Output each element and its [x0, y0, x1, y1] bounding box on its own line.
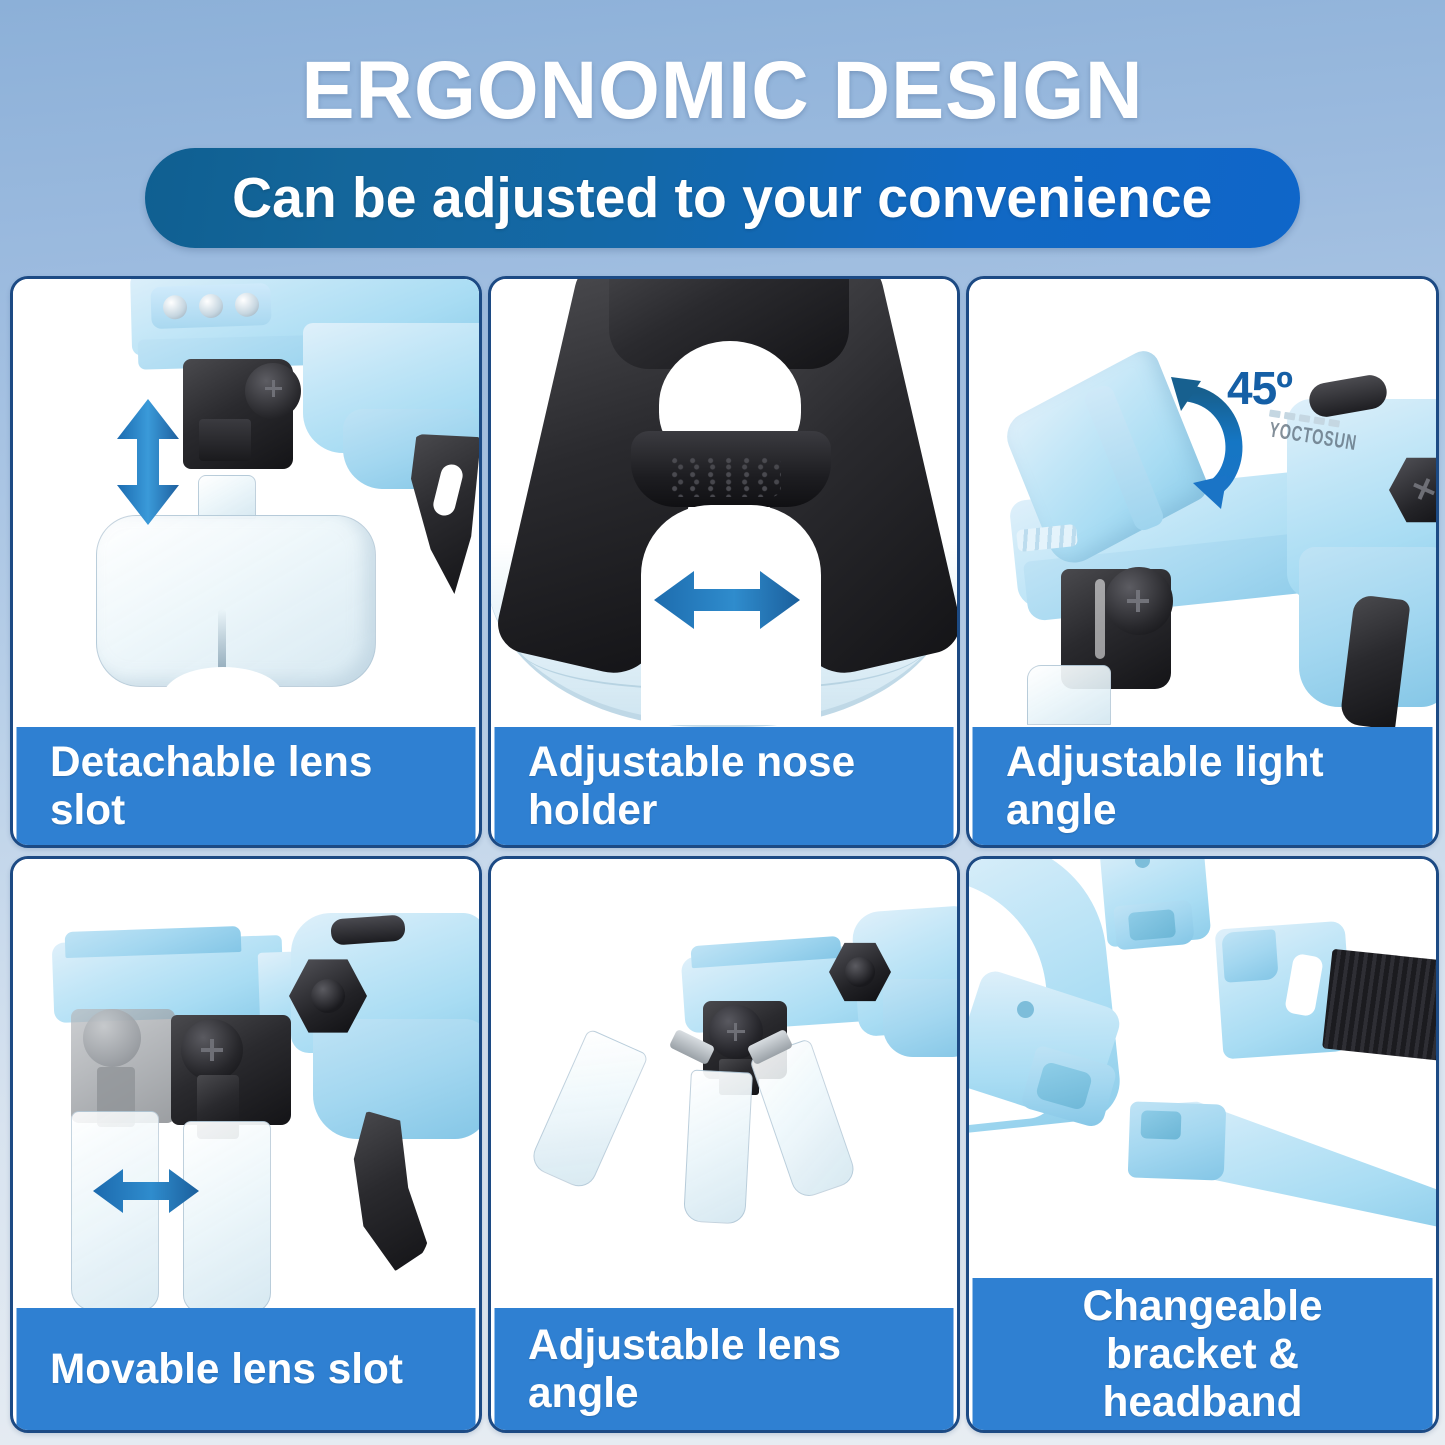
lens-plate-notch	[163, 667, 283, 727]
lens-mount-screw-cross	[272, 380, 275, 397]
lens-position-center	[683, 1069, 753, 1224]
led-bulb-icon	[199, 294, 224, 319]
product-photo-adjustable-lens-angle	[491, 859, 957, 1308]
led-bulb-icon	[163, 295, 188, 320]
product-photo-adjustable-light-angle: YOCTOSUN	[969, 279, 1436, 727]
caption-changeable-bracket-headband: Changeable bracket & headband	[973, 1278, 1433, 1430]
hinge-screw-cross	[734, 1023, 737, 1041]
horizontal-double-arrow-icon	[91, 1167, 201, 1215]
feature-card-movable-lens-slot[interactable]: Movable lens slot	[10, 856, 482, 1433]
subtitle-text: Can be adjusted to your convenience	[232, 165, 1212, 231]
caption-movable-lens-slot: Movable lens slot	[16, 1308, 475, 1430]
switch-strip	[330, 914, 406, 945]
swivel-joint-slit	[1095, 579, 1105, 659]
lens-position-right	[749, 1038, 858, 1201]
feature-card-adjustable-light-angle[interactable]: YOCTOSUN	[966, 276, 1439, 848]
swivel-screw-cross	[1136, 590, 1140, 612]
product-photo-movable-lens-slot	[13, 859, 479, 1308]
feature-card-adjustable-nose-holder[interactable]: Adjustable nose holder	[488, 276, 960, 848]
nose-pad-texture	[671, 455, 781, 497]
detachable-lens-plate	[96, 515, 376, 687]
led-strip	[150, 283, 271, 329]
product-photo-changeable-bracket-headband	[969, 859, 1436, 1278]
clip-top-slot	[1128, 909, 1176, 941]
header: ERGONOMIC DESIGN Can be adjusted to your…	[0, 0, 1445, 248]
bracket-screw-cross	[210, 1039, 214, 1061]
product-photo-detachable-lens-slot	[13, 279, 479, 727]
subtitle-banner: Can be adjusted to your convenience	[145, 148, 1300, 248]
led-bulb-icon	[235, 292, 260, 317]
horizontal-double-arrow-icon	[652, 569, 802, 631]
feature-card-adjustable-lens-angle[interactable]: Adjustable lens angle	[488, 856, 960, 1433]
lens-stem	[198, 475, 256, 519]
feature-card-changeable-bracket-headband[interactable]: Changeable bracket & headband	[966, 856, 1439, 1433]
page-title: ERGONOMIC DESIGN	[22, 48, 1424, 134]
caption-adjustable-lens-angle: Adjustable lens angle	[494, 1308, 953, 1430]
vertical-double-arrow-icon	[113, 397, 183, 527]
headband-strap	[1322, 949, 1436, 1061]
angle-value-label: 45º	[1227, 361, 1292, 415]
feature-card-detachable-lens-slot[interactable]: Detachable lens slot	[10, 276, 482, 848]
caption-adjustable-nose-holder: Adjustable nose holder	[494, 727, 953, 845]
ghost-bracket-screw-icon	[83, 1009, 141, 1067]
frame-body-right-lower	[883, 979, 957, 1057]
product-photo-adjustable-nose-holder	[491, 279, 957, 727]
hex-knob-center	[311, 979, 345, 1013]
hex-knob-center	[845, 957, 875, 987]
bracket-pin-hole	[1017, 1001, 1034, 1018]
lens-glimpse	[1027, 665, 1111, 725]
caption-adjustable-light-angle: Adjustable light angle	[973, 727, 1433, 845]
lens-mount-slot	[199, 419, 251, 461]
feature-grid: Detachable lens slot	[10, 276, 1435, 1435]
buckle-hook	[1221, 929, 1278, 983]
caption-detachable-lens-slot: Detachable lens slot	[16, 727, 475, 845]
detached-arm-slot	[1141, 1110, 1182, 1139]
lens-position-left	[528, 1028, 649, 1192]
